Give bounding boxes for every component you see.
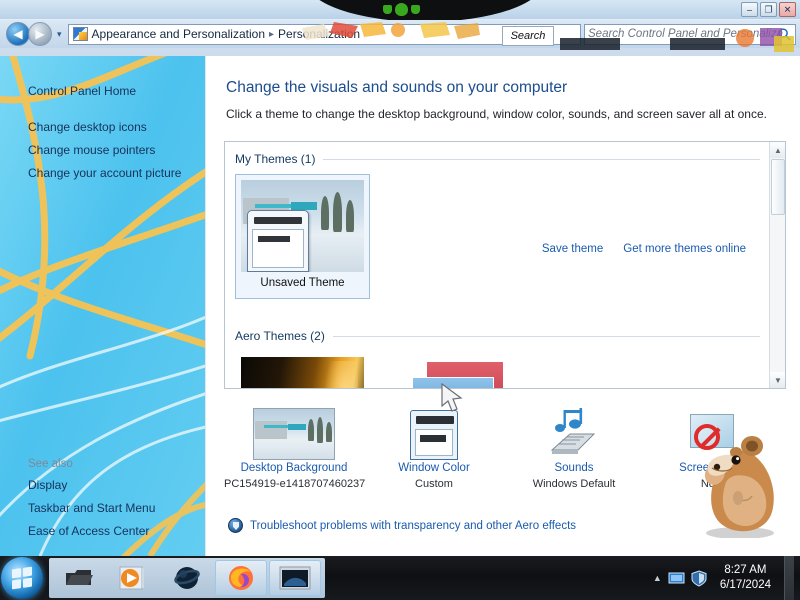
save-theme-link[interactable]: Save theme: [542, 243, 603, 255]
minimize-button[interactable]: –: [741, 2, 758, 17]
theme-tile-unsaved[interactable]: Unsaved Theme: [235, 174, 370, 299]
windows-logo-icon: [12, 567, 32, 590]
shield-icon: [228, 518, 243, 533]
setting-value: Windows Default: [504, 476, 644, 492]
clock-date: 6/17/2024: [720, 578, 771, 593]
back-arrow-icon: ◀: [13, 28, 22, 40]
system-tray: ▲ 8:27 AM 6/17/2024: [653, 556, 800, 600]
group-divider: [333, 336, 760, 337]
internet-explorer-icon: [173, 565, 201, 591]
taskbar-item-windows-explorer[interactable]: [53, 560, 105, 596]
troubleshoot-link-row[interactable]: Troubleshoot problems with transparency …: [228, 518, 576, 533]
chevron-down-icon[interactable]: ▾: [57, 29, 62, 40]
hamster-overlay-image: [690, 408, 786, 538]
group-label-my-themes: My Themes (1): [235, 152, 315, 166]
desktop-background-icon[interactable]: [224, 400, 364, 460]
setting-sounds[interactable]: Sounds Windows Default: [504, 400, 644, 492]
overlay-artifact-green-3: [411, 5, 420, 14]
scroll-down-button[interactable]: ▼: [770, 372, 786, 388]
get-more-themes-link[interactable]: Get more themes online: [623, 243, 746, 255]
breadcrumb-item-appearance[interactable]: Appearance and Personalization: [92, 27, 265, 41]
setting-title[interactable]: Window Color: [364, 460, 504, 476]
overlay-artifact-green-2: [395, 3, 408, 16]
scrollbar-thumb[interactable]: [771, 159, 785, 215]
setting-value: PC154919-e1418707460237: [224, 476, 364, 492]
tray-overflow-icon[interactable]: ▲: [653, 573, 662, 583]
minimize-icon: –: [747, 5, 752, 14]
breadcrumb-item-personalization[interactable]: Personalization: [278, 27, 360, 41]
vertical-scrollbar[interactable]: ▲ ▼: [769, 142, 785, 388]
clock[interactable]: 8:27 AM 6/17/2024: [714, 563, 777, 593]
theme-tile-architecture[interactable]: [235, 351, 370, 389]
setting-title[interactable]: Sounds: [504, 460, 644, 476]
group-divider: [323, 159, 760, 160]
search-label-artifact: Search: [502, 26, 554, 46]
search-placeholder: Search Control Panel and Personaliza: [588, 28, 783, 40]
taskbar-item-firefox[interactable]: [215, 560, 267, 596]
window-preview-icon: [279, 566, 311, 590]
theme-thumbnail: [241, 357, 364, 389]
firefox-icon: [227, 564, 255, 592]
personalization-window: – ❐ ✕ ◀ ▶ ▾ Appearance and Perso: [0, 0, 800, 556]
setting-value: Custom: [364, 476, 504, 492]
network-icon[interactable]: [668, 571, 685, 586]
clock-time: 8:27 AM: [720, 563, 771, 578]
page-title: Change the visuals and sounds on your co…: [226, 78, 800, 98]
setting-title[interactable]: Desktop Background: [224, 460, 364, 476]
back-button[interactable]: ◀: [6, 22, 30, 46]
see-also-section: See also Display Taskbar and Start Menu …: [28, 454, 205, 543]
theme-thumbnail: [241, 180, 364, 272]
setting-window-color[interactable]: Window Color Custom: [364, 400, 504, 492]
tray-icons: ▲: [653, 570, 707, 587]
window-controls: – ❐ ✕: [741, 2, 796, 17]
sidebar-item-ease-of-access[interactable]: Ease of Access Center: [28, 520, 205, 543]
group-header-my-themes: My Themes (1): [235, 152, 760, 166]
taskbar-item-control-panel-window[interactable]: [269, 560, 321, 596]
sidebar-item-display[interactable]: Display: [28, 474, 205, 497]
theme-list-scroll-area: My Themes (1): [225, 142, 770, 389]
sidebar-item-change-account-picture[interactable]: Change your account picture: [28, 162, 205, 185]
sidebar-item-taskbar-start-menu[interactable]: Taskbar and Start Menu: [28, 497, 205, 520]
navigation-links: Control Panel Home Change desktop icons …: [0, 56, 205, 185]
close-button[interactable]: ✕: [779, 2, 796, 17]
group-label-aero-themes: Aero Themes (2): [235, 329, 325, 343]
sidebar-item-control-panel-home[interactable]: Control Panel Home: [28, 80, 205, 103]
forward-button[interactable]: ▶: [28, 22, 52, 46]
breadcrumb-separator-icon: ▸: [269, 29, 274, 40]
control-panel-icon: [73, 27, 88, 41]
aero-theme-row: [235, 351, 760, 389]
scroll-up-button[interactable]: ▲: [770, 142, 786, 158]
see-also-title: See also: [28, 454, 205, 474]
show-desktop-button[interactable]: [784, 556, 794, 600]
address-bar: ◀ ▶ ▾ Appearance and Personalization ▸ P…: [0, 20, 800, 48]
mouse-cursor: [440, 383, 466, 415]
start-button[interactable]: [1, 557, 43, 599]
sounds-icon[interactable]: [504, 400, 644, 460]
restore-button[interactable]: ❐: [760, 2, 777, 17]
desktop-background-preview: [254, 409, 334, 459]
theme-name: Unsaved Theme: [241, 272, 364, 294]
taskbar: ▲ 8:27 AM 6/17/2024: [0, 556, 800, 600]
theme-preview-window-mock: [247, 210, 309, 272]
sidebar-item-change-desktop-icons[interactable]: Change desktop icons: [28, 116, 205, 139]
search-icon[interactable]: [777, 27, 792, 42]
forward-arrow-icon: ▶: [35, 28, 44, 40]
close-icon: ✕: [784, 5, 792, 14]
restore-icon: ❐: [764, 5, 772, 14]
setting-desktop-background[interactable]: Desktop Background PC154919-e14187074602…: [224, 400, 364, 492]
overlay-artifact-green-1: [383, 5, 392, 14]
window-color-icon[interactable]: [364, 400, 504, 460]
navigation-pane: Control Panel Home Change desktop icons …: [0, 56, 205, 556]
search-input[interactable]: Search Control Panel and Personaliza: [584, 24, 796, 45]
taskbar-items: [49, 558, 325, 598]
theme-list[interactable]: My Themes (1): [224, 141, 786, 389]
group-header-aero-themes: Aero Themes (2): [235, 329, 760, 343]
action-center-icon[interactable]: [691, 570, 707, 587]
navigation-buttons: ◀ ▶ ▾: [6, 22, 62, 46]
screen: – ❐ ✕ ◀ ▶ ▾ Appearance and Perso: [0, 0, 800, 600]
page-subtitle: Click a theme to change the desktop back…: [226, 107, 800, 121]
explorer-icon: [64, 566, 94, 590]
troubleshoot-label[interactable]: Troubleshoot problems with transparency …: [250, 520, 576, 532]
theme-actions: Save theme Get more themes online: [542, 243, 746, 255]
media-player-icon: [119, 565, 147, 591]
taskbar-item-internet-explorer[interactable]: [161, 560, 213, 596]
sidebar-item-change-mouse-pointers[interactable]: Change mouse pointers: [28, 139, 205, 162]
taskbar-item-windows-media-player[interactable]: [107, 560, 159, 596]
